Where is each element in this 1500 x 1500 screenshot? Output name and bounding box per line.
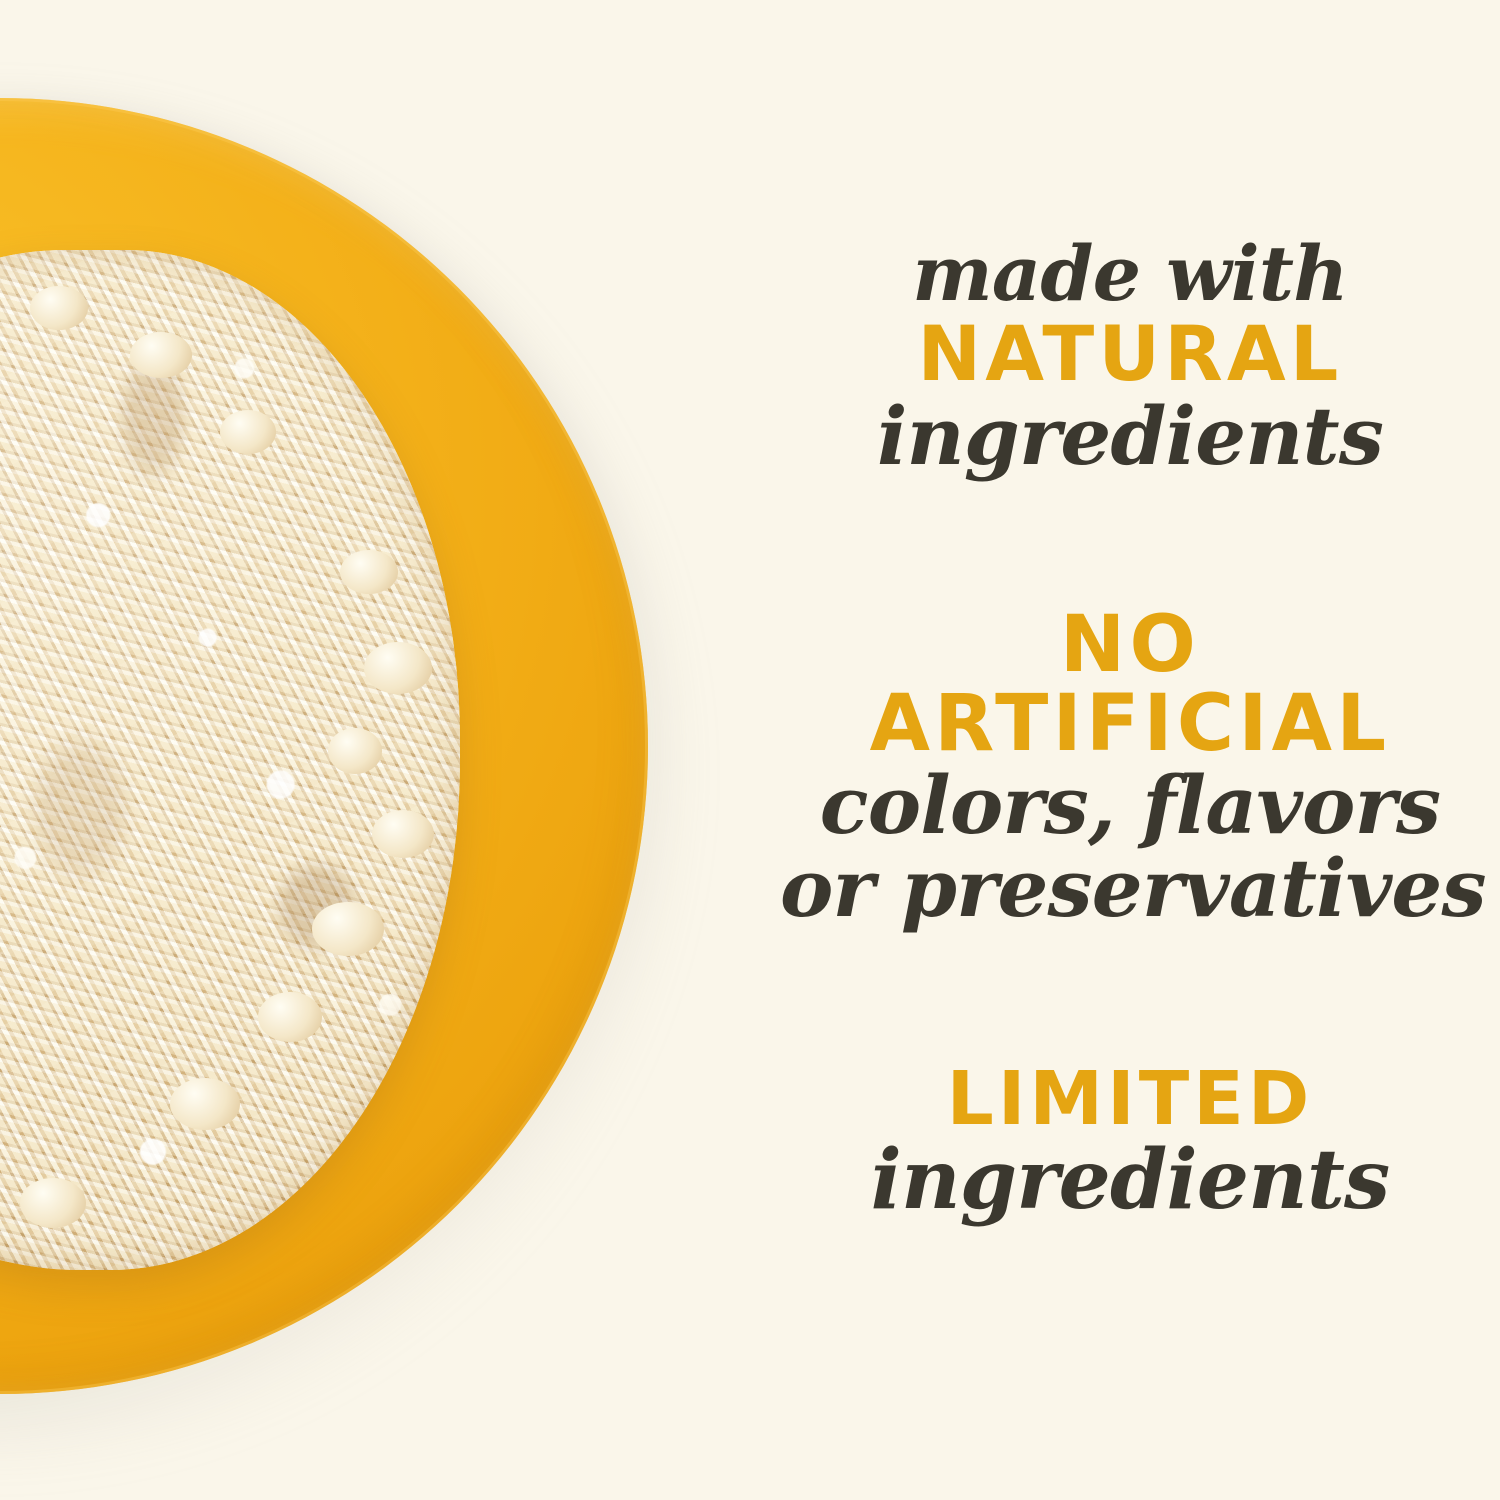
claim-no-artificial: NO ARTIFICIAL colors, flavors or preserv… — [780, 606, 1480, 930]
claim-line-emphasis: ARTIFICIAL — [780, 684, 1480, 765]
food-mound — [0, 250, 460, 1270]
claim-natural-ingredients: made with NATURAL ingredients — [780, 238, 1480, 478]
food-frill — [170, 1078, 240, 1130]
product-photo — [0, 0, 760, 1500]
benefit-claims: made with NATURAL ingredients NO ARTIFIC… — [760, 0, 1500, 1500]
product-benefits-panel: made with NATURAL ingredients NO ARTIFIC… — [0, 0, 1500, 1500]
food-frill — [130, 332, 192, 378]
food-frill — [364, 642, 432, 694]
food-frill — [30, 286, 88, 330]
food-frill — [340, 550, 398, 594]
claim-line-emphasis: NATURAL — [780, 311, 1480, 396]
claim-line-emphasis: LIMITED — [780, 1062, 1480, 1136]
food-frill — [20, 1178, 86, 1228]
food-frill — [220, 410, 276, 454]
claim-line-emphasis: NO — [780, 606, 1480, 684]
food-frill — [312, 902, 384, 956]
claim-line: ingredients — [780, 396, 1480, 478]
claim-line: ingredients — [780, 1136, 1480, 1225]
food-frill — [372, 810, 434, 858]
food-frill — [258, 992, 322, 1042]
claim-line: colors, flavors — [780, 765, 1480, 847]
food-frill — [328, 728, 382, 774]
claim-line: or preservatives — [780, 847, 1480, 930]
claim-line: made with — [780, 238, 1480, 311]
claim-limited-ingredients: LIMITED ingredients — [780, 1062, 1480, 1225]
